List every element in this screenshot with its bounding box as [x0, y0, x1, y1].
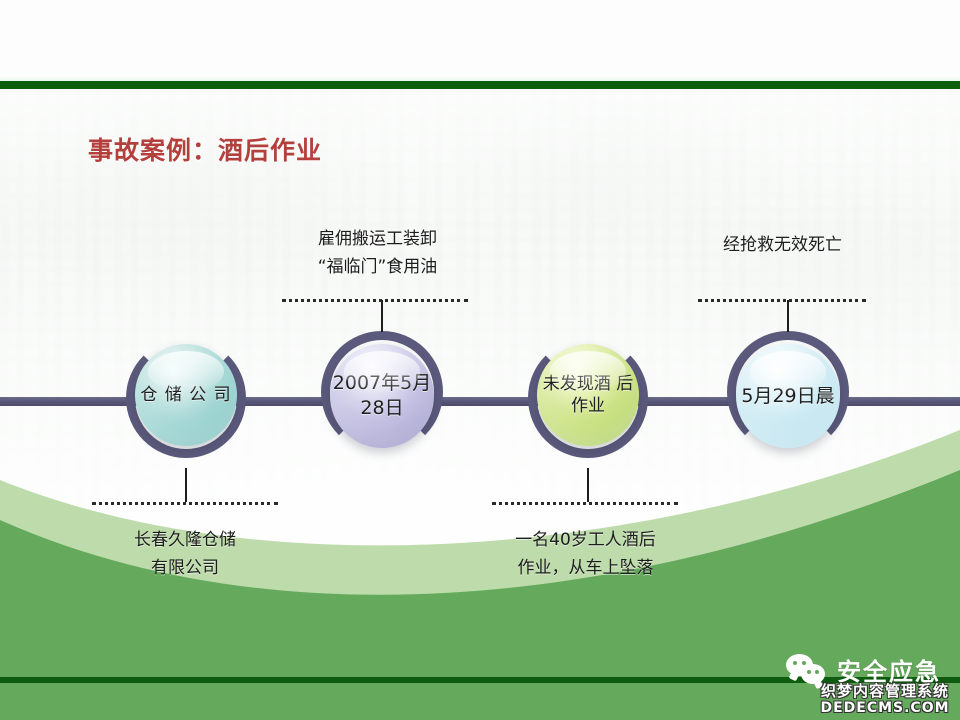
page-title: 事故案例：酒后作业 — [88, 131, 322, 167]
note-above-2: 雇佣搬运工装卸 “福临门”食用油 — [275, 226, 480, 281]
slide-canvas: 事故案例：酒后作业 仓 储 公 司 长春久隆仓储 有限公司 2007年5月 28… — [0, 0, 960, 720]
timeline-node-2[interactable]: 2007年5月 28日 — [321, 331, 443, 453]
note-below-1: 长春久隆仓储 有限公司 — [85, 527, 285, 582]
top-green-rule — [0, 81, 960, 89]
timeline-node-1[interactable]: 仓 储 公 司 — [126, 338, 246, 458]
watermark-line-2: DEDECMS.COM — [810, 700, 960, 716]
node-2-label: 2007年5月 28日 — [330, 371, 434, 420]
node-1-label: 仓 储 公 司 — [140, 384, 231, 406]
note-above-4: 经抢救无效死亡 — [690, 232, 875, 260]
node-1-stem — [185, 468, 187, 502]
node-2-dotted-line — [282, 299, 468, 302]
node-3-stem — [587, 468, 589, 502]
timeline-node-3[interactable]: 未发现酒 后作业 — [528, 338, 648, 458]
node-2-stem — [381, 300, 383, 332]
node-1-dotted-line — [92, 502, 278, 505]
node-3-label: 未发现酒 后作业 — [537, 373, 639, 417]
node-4-ball: 5月29日晨 — [736, 344, 840, 448]
node-3-ball: 未发现酒 后作业 — [537, 344, 639, 446]
node-1-ball: 仓 储 公 司 — [135, 344, 237, 446]
timeline-node-4[interactable]: 5月29日晨 — [727, 331, 849, 453]
note-below-3: 一名40岁工人酒后 作业，从车上坠落 — [478, 527, 693, 582]
top-white-margin — [0, 0, 960, 81]
watermark-line-1: 织梦内容管理系统 — [810, 680, 960, 701]
node-4-dotted-line — [698, 299, 866, 302]
node-3-dotted-line — [492, 502, 678, 505]
node-4-label: 5月29日晨 — [741, 384, 834, 409]
node-4-stem — [787, 300, 789, 332]
node-2-ball: 2007年5月 28日 — [330, 344, 434, 448]
